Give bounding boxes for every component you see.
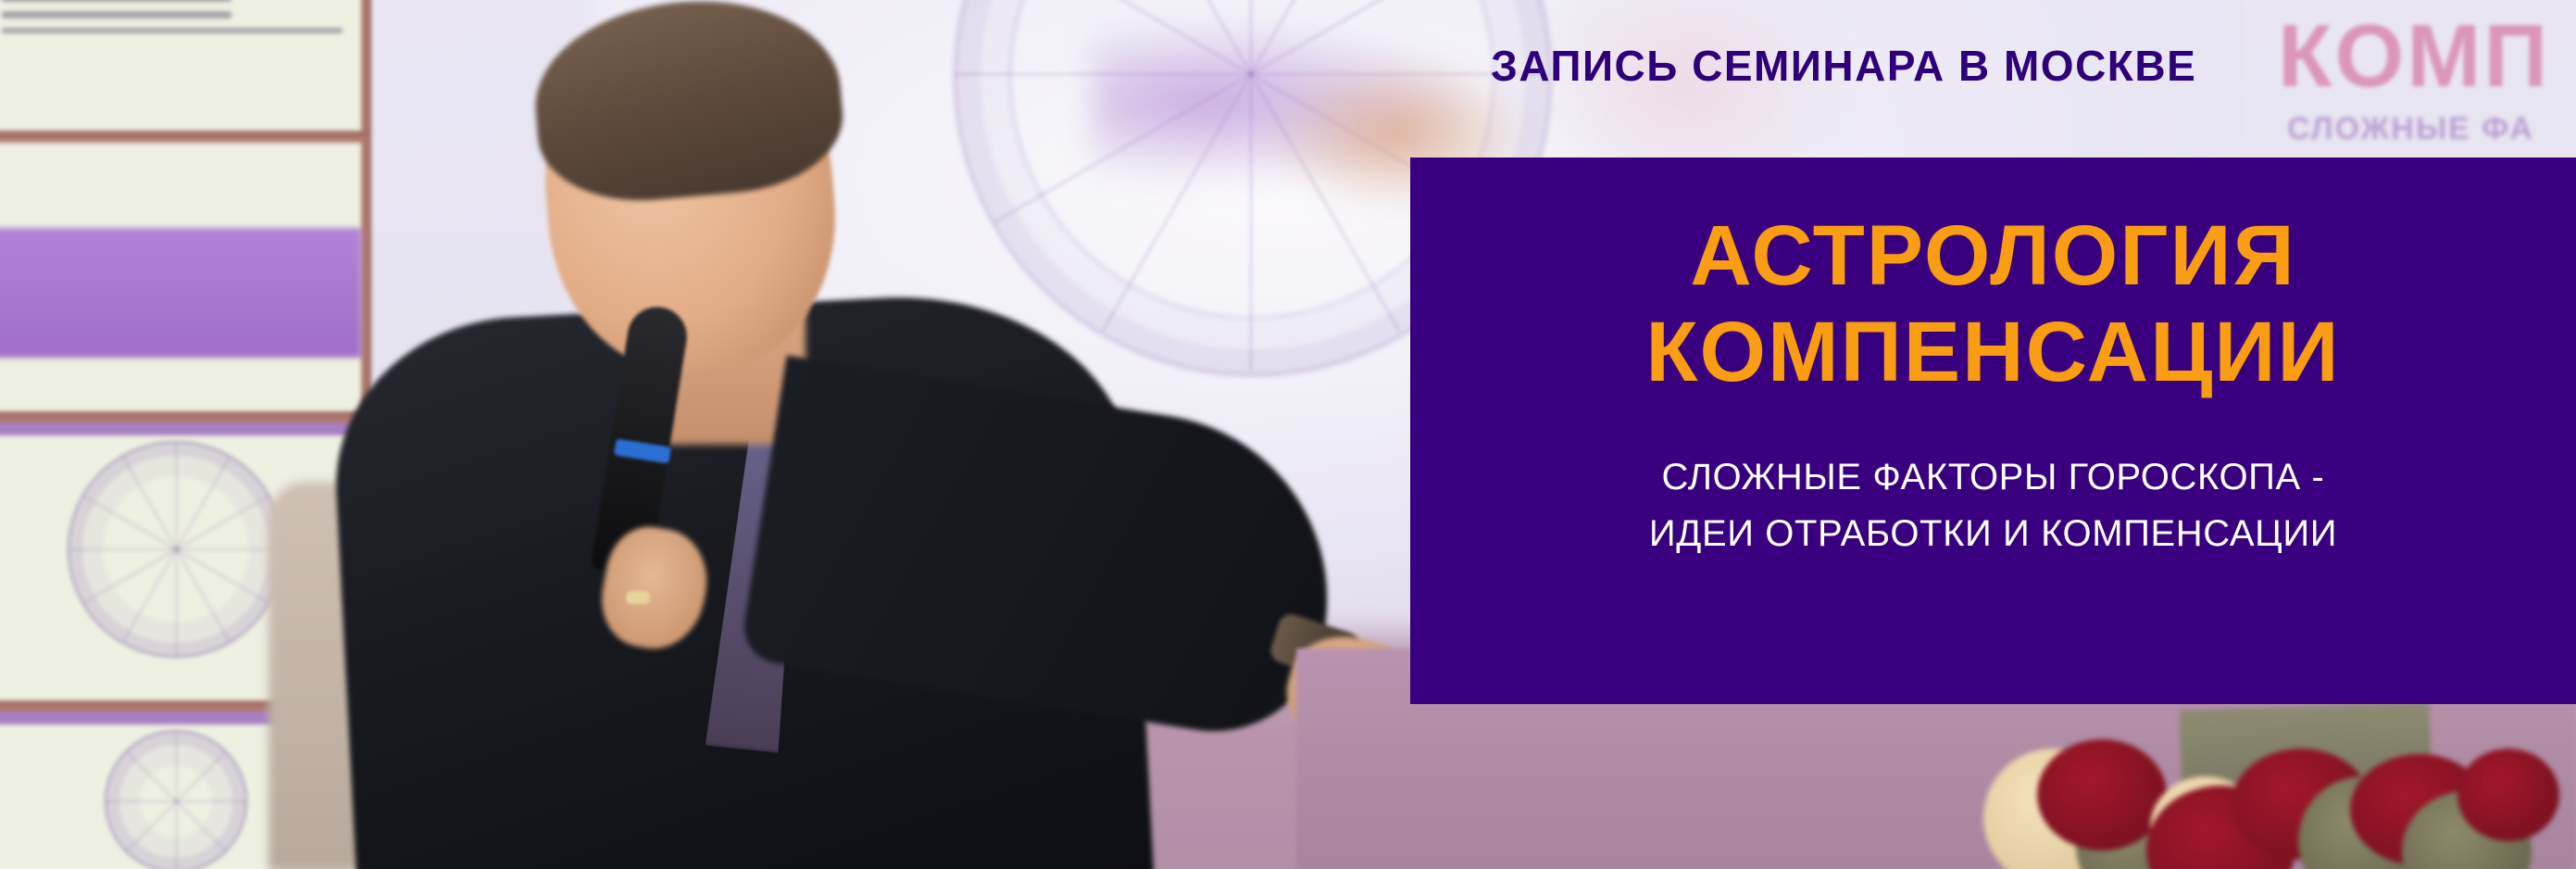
- kicker-headline: ЗАПИСЬ СЕМИНАРА В МОСКВЕ: [1491, 41, 2196, 91]
- speaker-figure: [278, 0, 1296, 869]
- flower: [2457, 749, 2559, 841]
- projected-banner-subtext: СЛОЖНЫЕ ФА: [2287, 111, 2534, 147]
- promo-title-line-1: АСТРОЛОГИЯ: [1690, 211, 2295, 302]
- flower: [2037, 739, 2167, 850]
- astrology-chart-wheel: [68, 441, 284, 658]
- finger-ring: [626, 591, 650, 604]
- promo-subtitle-line-2: ИДЕИ ОТРАБОТКИ И КОМПЕНСАЦИИ: [1649, 506, 2337, 562]
- promo-title-line-2: КОМПЕНСАЦИИ: [1645, 308, 2340, 398]
- promo-subtitle: СЛОЖНЫЕ ФАКТОРЫ ГОРОСКОПА - ИДЕИ ОТРАБОТ…: [1649, 449, 2337, 562]
- promo-banner: КОМП СЛОЖНЫЕ ФА: [0, 0, 2576, 869]
- astrology-chart-wheel: [105, 730, 247, 869]
- projected-banner-text: КОМП: [2278, 6, 2550, 107]
- promo-panel: АСТРОЛОГИЯ КОМПЕНСАЦИИ СЛОЖНЫЕ ФАКТОРЫ Г…: [1410, 157, 2576, 704]
- promo-subtitle-line-1: СЛОЖНЫЕ ФАКТОРЫ ГОРОСКОПА -: [1649, 449, 2337, 506]
